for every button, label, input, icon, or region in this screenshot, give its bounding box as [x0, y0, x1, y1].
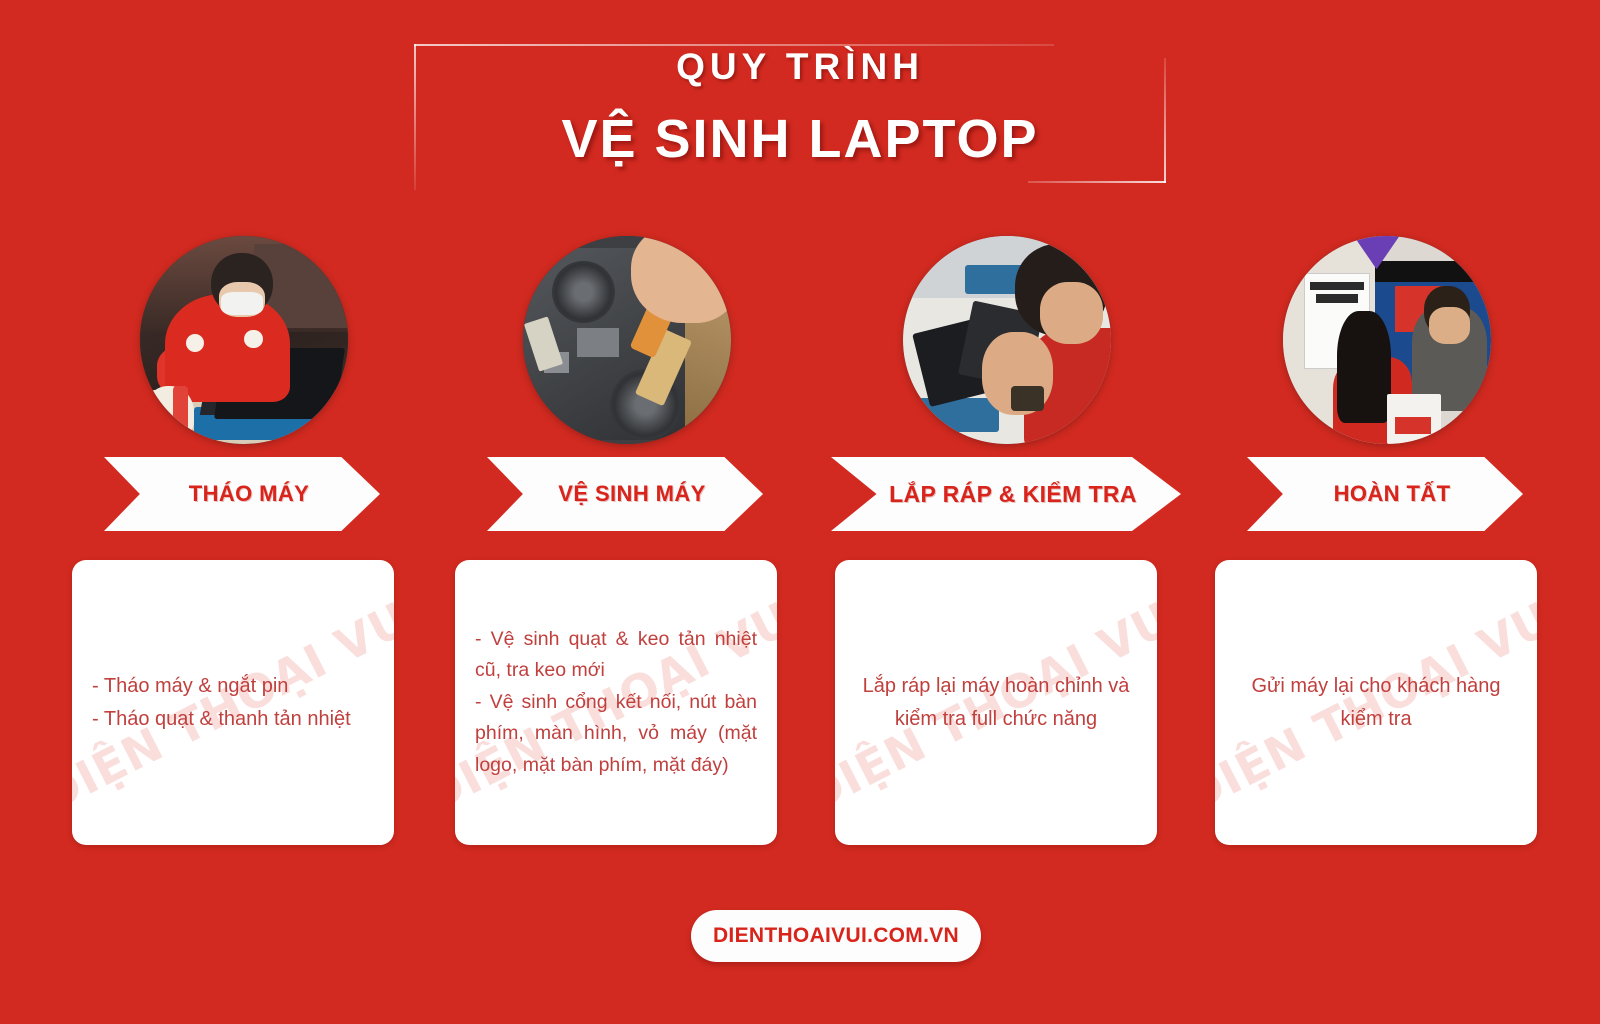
step-card-3: ĐIỆN THOẠI VUI Lắp ráp lại máy hoàn chỉn… — [835, 560, 1157, 845]
step-card-2: ĐIỆN THOẠI VUI - Vệ sinh quạt & keo tản … — [455, 560, 777, 845]
step-photo-ve-sinh-may — [523, 236, 731, 444]
step-column-1: THÁO MÁY ĐIỆN THOẠI VUI - Tháo máy & ngắ… — [42, 0, 432, 1024]
step-photo-lap-rap — [903, 236, 1111, 444]
footer-website-text: DIENTHOAIVUI.COM.VN — [713, 924, 959, 948]
step-banner-1[interactable]: THÁO MÁY — [104, 457, 380, 531]
step-text-1-line-1: - Tháo máy & ngắt pin — [92, 670, 374, 702]
step-photo-hoan-tat — [1283, 236, 1491, 444]
step-banner-4[interactable]: HOÀN TẤT — [1247, 457, 1523, 531]
step-photo-thao-may — [140, 236, 348, 444]
step-text-2-line-1: - Vệ sinh quạt & keo tản nhiệt cũ, tra k… — [475, 624, 757, 687]
footer-website-badge[interactable]: DIENTHOAIVUI.COM.VN — [691, 910, 981, 962]
step-banner-label-2: VỆ SINH MÁY — [544, 481, 705, 507]
step-text-2-line-2: - Vệ sinh cổng kết nối, nút bàn phím, mà… — [475, 687, 757, 782]
step-banner-3[interactable]: LẮP RÁP & KIỂM TRA — [831, 457, 1181, 531]
step-column-2: VỆ SINH MÁY ĐIỆN THOẠI VUI - Vệ sinh quạ… — [425, 0, 815, 1024]
step-text-4-line-1: Gửi máy lại cho khách hàng kiểm tra — [1235, 670, 1517, 735]
step-banner-label-4: HOÀN TẤT — [1320, 481, 1451, 507]
step-column-4: HOÀN TẤT ĐIỆN THOẠI VUI Gửi máy lại cho … — [1185, 0, 1575, 1024]
step-column-3: LẮP RÁP & KIỂM TRA ĐIỆN THOẠI VUI Lắp rá… — [805, 0, 1195, 1024]
step-text-1-line-2: - Tháo quạt & thanh tản nhiệt — [92, 703, 374, 735]
step-banner-label-3: LẮP RÁP & KIỂM TRA — [875, 481, 1137, 508]
step-text-3-line-1: Lắp ráp lại máy hoàn chỉnh và kiểm tra f… — [855, 670, 1137, 735]
step-card-4: ĐIỆN THOẠI VUI Gửi máy lại cho khách hàn… — [1215, 560, 1537, 845]
step-banner-2[interactable]: VỆ SINH MÁY — [487, 457, 763, 531]
step-card-1: ĐIỆN THOẠI VUI - Tháo máy & ngắt pin - T… — [72, 560, 394, 845]
step-banner-label-1: THÁO MÁY — [175, 481, 310, 507]
